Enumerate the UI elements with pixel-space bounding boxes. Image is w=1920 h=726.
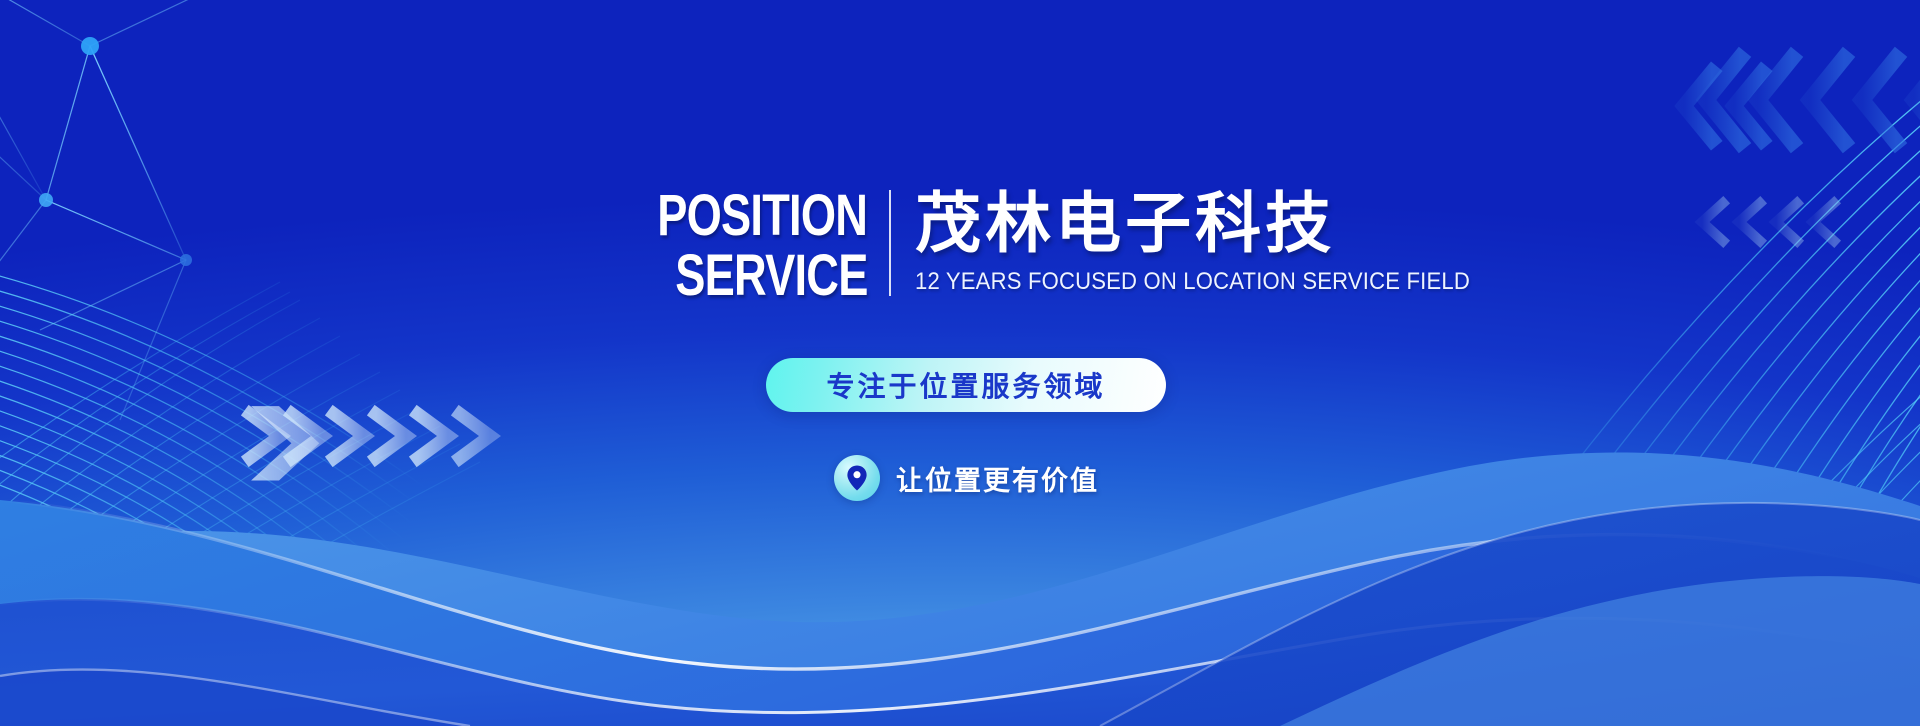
focus-pill-label: 专注于位置服务领域: [826, 365, 1105, 405]
banner-content: POSITION SERVICE 茂林电子科技 12 YEARS FOCUSED…: [0, 0, 1920, 726]
slogan-row: 让位置更有价值: [834, 455, 1099, 501]
english-tagline: 12 YEARS FOCUSED ON LOCATION SERVICE FIE…: [915, 268, 1470, 296]
english-brand-stack: POSITION SERVICE: [598, 186, 889, 306]
hero-banner: POSITION SERVICE 茂林电子科技 12 YEARS FOCUSED…: [0, 0, 1920, 726]
focus-pill-badge: 专注于位置服务领域: [766, 358, 1166, 412]
location-pin-icon: [834, 455, 880, 501]
english-brand-line-2: SERVICE: [675, 246, 867, 306]
english-brand-line-1: POSITION: [657, 186, 867, 246]
chinese-brand-stack: 茂林电子科技 12 YEARS FOCUSED ON LOCATION SERV…: [891, 186, 1518, 296]
company-name-chinese: 茂林电子科技: [915, 186, 1518, 260]
slogan-label: 让位置更有价值: [896, 459, 1099, 498]
brand-title-row: POSITION SERVICE 茂林电子科技 12 YEARS FOCUSED…: [598, 186, 1518, 306]
